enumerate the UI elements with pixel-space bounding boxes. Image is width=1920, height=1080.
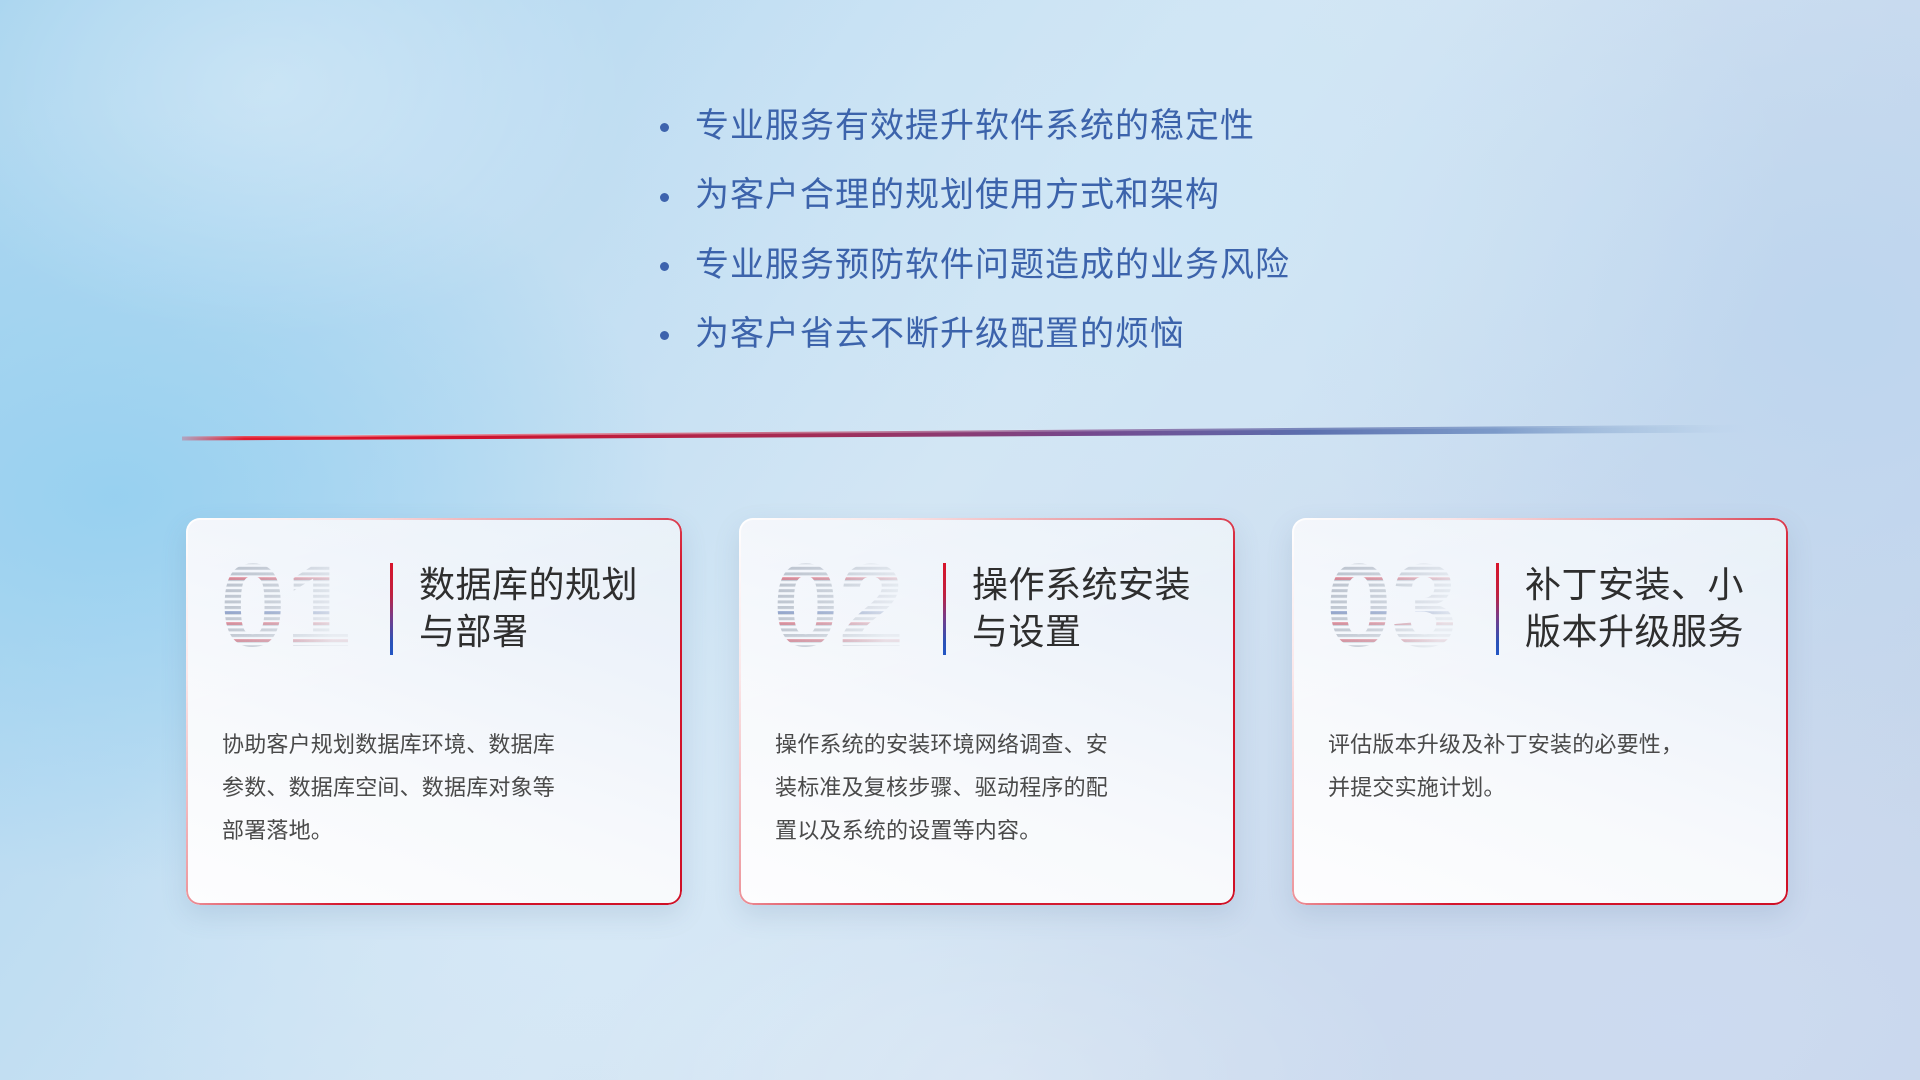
card-number-02: 02 xyxy=(771,550,921,668)
card-header: 01 数据库的规划 与部署 xyxy=(186,550,682,668)
card-accent-divider xyxy=(943,563,946,655)
list-item: 为客户合理的规划使用方式和架构 xyxy=(660,177,1290,214)
striped-number-icon: 02 xyxy=(771,550,921,668)
card-title: 数据库的规划 与部署 xyxy=(419,562,638,656)
striped-number-icon: 03 xyxy=(1324,550,1474,668)
card-body-text: 评估版本升级及补丁安装的必要性， 并提交实施计划。 xyxy=(1328,724,1758,810)
section-divider-rule xyxy=(182,421,1747,441)
service-card[interactable]: 03 补丁安装、小 版本升级服务 xyxy=(1292,518,1788,905)
bullet-dot-icon xyxy=(660,193,669,202)
list-item: 专业服务预防软件问题造成的业务风险 xyxy=(660,247,1290,284)
slide-canvas: 专业服务有效提升软件系统的稳定性 为客户合理的规划使用方式和架构 专业服务预防软… xyxy=(0,0,1920,1080)
service-card-list: 01 数据库的规划 与部署 xyxy=(186,518,1788,905)
benefit-bullet-list: 专业服务有效提升软件系统的稳定性 为客户合理的规划使用方式和架构 专业服务预防软… xyxy=(660,108,1290,354)
card-title: 补丁安装、小 版本升级服务 xyxy=(1525,562,1744,656)
list-item: 专业服务有效提升软件系统的稳定性 xyxy=(660,108,1290,145)
card-number-01: 01 xyxy=(218,550,368,668)
bullet-text: 为客户合理的规划使用方式和架构 xyxy=(695,177,1220,214)
service-card[interactable]: 02 操作系统安装 与设置 xyxy=(739,518,1235,905)
card-body-text: 协助客户规划数据库环境、数据库 参数、数据库空间、数据库对象等 部署落地。 xyxy=(222,724,652,853)
card-title: 操作系统安装 与设置 xyxy=(972,562,1191,656)
card-number-03: 03 xyxy=(1324,550,1474,668)
bullet-text: 为客户省去不断升级配置的烦恼 xyxy=(695,316,1185,353)
bullet-text: 专业服务预防软件问题造成的业务风险 xyxy=(695,247,1290,284)
striped-number-icon: 01 xyxy=(218,550,368,668)
card-accent-divider xyxy=(390,563,393,655)
bullet-dot-icon xyxy=(660,331,669,340)
card-accent-divider xyxy=(1496,563,1499,655)
service-card[interactable]: 01 数据库的规划 与部署 xyxy=(186,518,682,905)
bullet-dot-icon xyxy=(660,123,669,132)
bullet-text: 专业服务有效提升软件系统的稳定性 xyxy=(695,108,1255,145)
divider-shape-icon xyxy=(182,421,1747,441)
card-body-text: 操作系统的安装环境网络调查、安 装标准及复核步骤、驱动程序的配 置以及系统的设置… xyxy=(775,724,1205,853)
card-header: 03 补丁安装、小 版本升级服务 xyxy=(1292,550,1788,668)
bullet-dot-icon xyxy=(660,262,669,271)
card-header: 02 操作系统安装 与设置 xyxy=(739,550,1235,668)
list-item: 为客户省去不断升级配置的烦恼 xyxy=(660,316,1290,353)
